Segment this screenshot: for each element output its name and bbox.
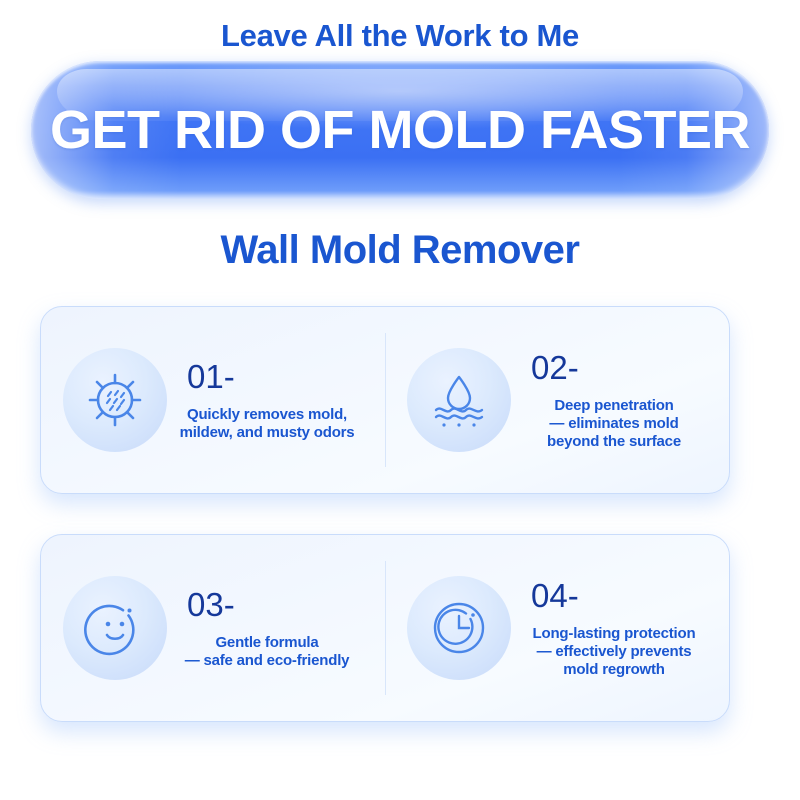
feature-item-02: 02- Deep penetration — eliminates mold b… xyxy=(385,307,729,493)
germ-icon xyxy=(63,348,167,452)
feature-card-row-1: 01- Quickly removes mold, mildew, and mu… xyxy=(40,306,730,494)
water-droplet-icon xyxy=(407,348,511,452)
banner-headline: GET RID OF MOLD FASTER xyxy=(31,61,769,199)
product-feature-graphic: Leave All the Work to Me GET RID OF MOLD… xyxy=(0,0,800,800)
eyebrow-headline: Leave All the Work to Me xyxy=(0,16,800,56)
feature-item-03: 03- Gentle formula — safe and eco-friend… xyxy=(41,535,385,721)
feature-number: 02- xyxy=(531,349,579,387)
feature-description: Gentle formula — safe and eco-friendly xyxy=(185,634,350,670)
feature-number: 03- xyxy=(187,586,235,624)
feature-number: 04- xyxy=(531,577,579,615)
feature-description: Long-lasting protection — effectively pr… xyxy=(533,625,696,679)
feature-number: 01- xyxy=(187,358,235,396)
feature-description: Quickly removes mold, mildew, and musty … xyxy=(180,406,355,442)
product-subtitle: Wall Mold Remover xyxy=(0,222,800,278)
clock-icon xyxy=(407,576,511,680)
feature-description: Deep penetration — eliminates mold beyon… xyxy=(547,397,681,451)
feature-item-01: 01- Quickly removes mold, mildew, and mu… xyxy=(41,307,385,493)
feature-item-04: 04- Long-lasting protection — effectivel… xyxy=(385,535,729,721)
banner-pill: GET RID OF MOLD FASTER xyxy=(31,61,769,199)
smiley-face-icon xyxy=(63,576,167,680)
feature-card-row-2: 03- Gentle formula — safe and eco-friend… xyxy=(40,534,730,722)
